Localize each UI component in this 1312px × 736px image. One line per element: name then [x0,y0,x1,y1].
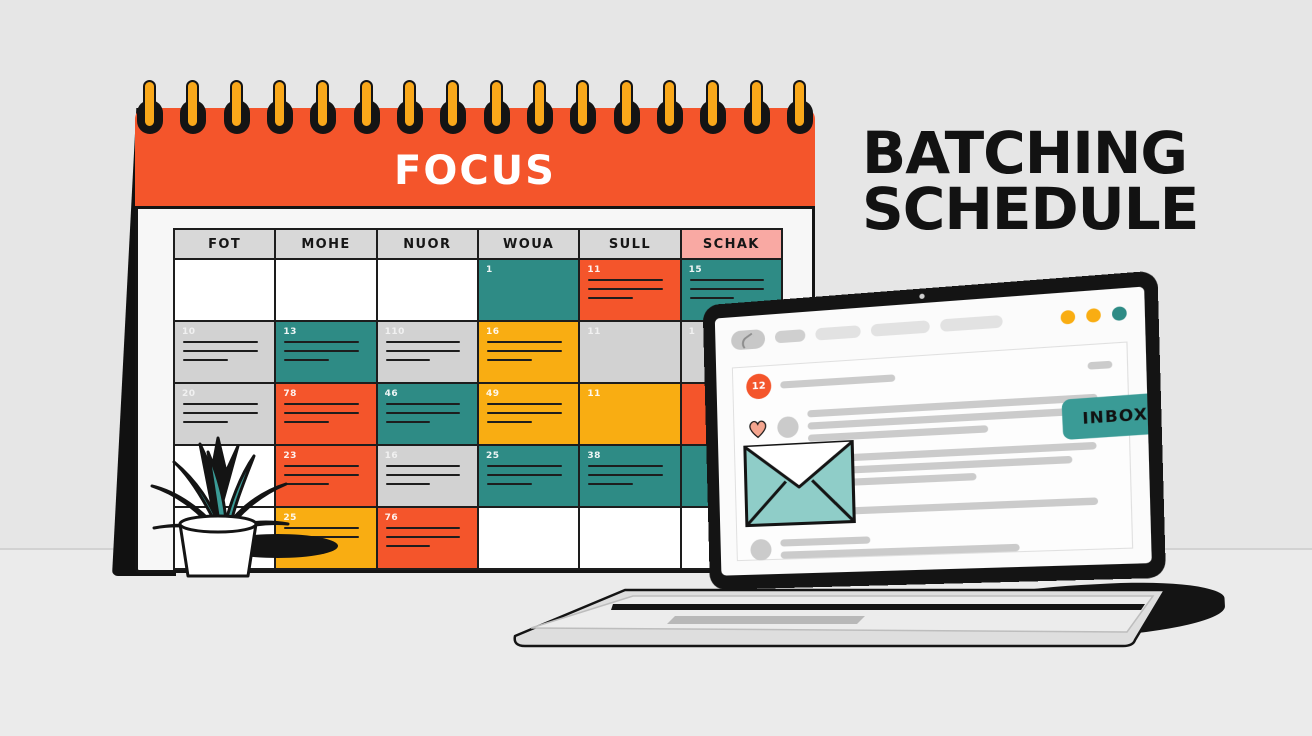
toolbar-pill[interactable] [775,329,806,343]
calendar-title: FOCUS [394,148,556,194]
spiral-ring [657,78,683,140]
event-line [284,341,359,343]
event-line [183,412,258,414]
ring-wire [533,80,546,128]
day-number: 13 [283,327,297,337]
webcam-icon [919,294,924,300]
spiral-ring [700,78,726,140]
laptop: 12 [505,305,1165,645]
spiral-ring [354,78,380,140]
illustration-canvas: FOCUS FOT MOHE NUOR WOUA SULL SCHAK 1111… [0,0,1312,736]
event-lines [386,527,467,554]
potted-succulent-icon [138,428,298,580]
spiral-ring [570,78,596,140]
heart-icon [747,418,769,440]
ring-wire [576,80,589,128]
day-number: 76 [385,513,399,523]
column-header[interactable]: SULL [579,229,680,259]
headline-line-1: BATCHING [862,126,1282,182]
event-lines [284,341,365,368]
event-line [386,474,461,476]
calendar-day-cell[interactable]: 46 [377,383,478,445]
spiral-ring [527,78,553,140]
ring-wire [186,80,199,128]
event-lines [386,341,467,368]
event-line [284,350,359,352]
header-placeholder-bars [780,363,1077,389]
spiral-ring [744,78,770,140]
event-line [386,421,431,423]
avatar [777,416,799,438]
page-title: BATCHING SCHEDULE [862,126,1282,237]
placeholder-bar [780,536,871,546]
day-number: 11 [587,265,601,275]
spiral-ring [484,78,510,140]
column-header-accent[interactable]: SCHAK [681,229,782,259]
toolbar-dot-icon[interactable] [1060,309,1075,324]
event-line [690,279,765,281]
toolbar-spacer [1013,318,1049,321]
list-item-bars [780,528,1117,559]
event-lines [183,403,264,430]
day-number: 46 [385,389,399,399]
headline-line-2: SCHEDULE [862,182,1282,238]
day-number: 16 [385,451,399,461]
calendar-day-cell[interactable]: 10 [174,321,275,383]
day-number: 49 [486,389,500,399]
event-line [386,483,431,485]
event-line [183,359,228,361]
laptop-base [505,580,1135,642]
ring-wire [273,80,286,128]
placeholder-bar [1088,361,1113,370]
laptop-screen: 12 [703,270,1166,590]
event-lines [183,341,264,368]
day-number: 1 [486,265,493,275]
event-line [284,359,329,361]
event-line [588,297,633,299]
column-header[interactable]: WOUA [478,229,579,259]
unread-count-badge: 12 [746,373,772,400]
spiral-ring [267,78,293,140]
day-number: 10 [182,327,196,337]
ring-wire [793,80,806,128]
spiral-ring [787,78,813,140]
event-line [183,403,258,405]
calendar-day-cell[interactable]: 110 [377,321,478,383]
calendar-day-cell[interactable] [174,259,275,321]
ring-wire [143,80,156,128]
column-header[interactable]: FOT [174,229,275,259]
day-number: 25 [486,451,500,461]
calendar-day-cell[interactable]: 76 [377,507,478,569]
calendar-day-cell[interactable] [275,259,376,321]
day-number: 16 [486,327,500,337]
event-line [386,341,461,343]
spiral-ring [397,78,423,140]
placeholder-bar [781,544,1020,559]
event-line [183,341,258,343]
event-line [386,465,461,467]
event-line [284,412,359,414]
day-number: 78 [283,389,297,399]
column-header[interactable]: MOHE [275,229,376,259]
event-line [690,288,765,290]
avatar [750,539,772,561]
event-line [386,403,461,405]
event-line [588,279,663,281]
event-line [284,403,359,405]
toolbar-dot-icon[interactable] [1112,306,1127,321]
ring-wire [446,80,459,128]
event-line [386,545,431,547]
spiral-ring [614,78,640,140]
toolbar-pill[interactable] [871,320,930,337]
ring-wire [620,80,633,128]
event-line [588,288,663,290]
event-lines [284,403,365,430]
spiral-ring [224,78,250,140]
event-line [386,359,431,361]
placeholder-bar [780,374,896,388]
ring-wire [706,80,719,128]
event-lines [386,465,467,492]
inbox-tag[interactable]: INBOX [1061,392,1151,440]
envelope-icon [743,439,857,527]
ring-wire [360,80,373,128]
event-lines [386,403,467,430]
toolbar-dot-icon[interactable] [1086,307,1101,322]
column-header[interactable]: NUOR [377,229,478,259]
ring-wire [750,80,763,128]
ring-wire [403,80,416,128]
event-line [183,350,258,352]
ring-wire [663,80,676,128]
ring-wire [230,80,243,128]
calendar-day-cell[interactable]: 13 [275,321,376,383]
toolbar-pill[interactable] [940,315,1003,332]
day-number: 20 [182,389,196,399]
spiral-ring [440,78,466,140]
event-line [386,412,461,414]
ring-wire [490,80,503,128]
event-lines [588,279,669,306]
event-line [690,297,735,299]
spiral-ring [180,78,206,140]
toolbar-pill[interactable] [815,325,860,340]
calendar-day-cell[interactable] [377,259,478,321]
calendar-header-row: FOT MOHE NUOR WOUA SULL SCHAK [174,229,782,259]
event-line [386,527,461,529]
calendar-day-cell[interactable]: 16 [377,445,478,507]
laptop-display: 12 [715,287,1152,576]
day-number: 110 [385,327,405,337]
spiral-ring [310,78,336,140]
back-arrow-icon[interactable] [731,328,765,349]
day-number: 15 [689,265,703,275]
ring-wire [316,80,329,128]
event-line [183,421,228,423]
event-line [386,536,461,538]
spiral-ring [137,78,163,140]
event-line [284,421,329,423]
spiral-binding [135,78,815,140]
event-line [386,350,461,352]
